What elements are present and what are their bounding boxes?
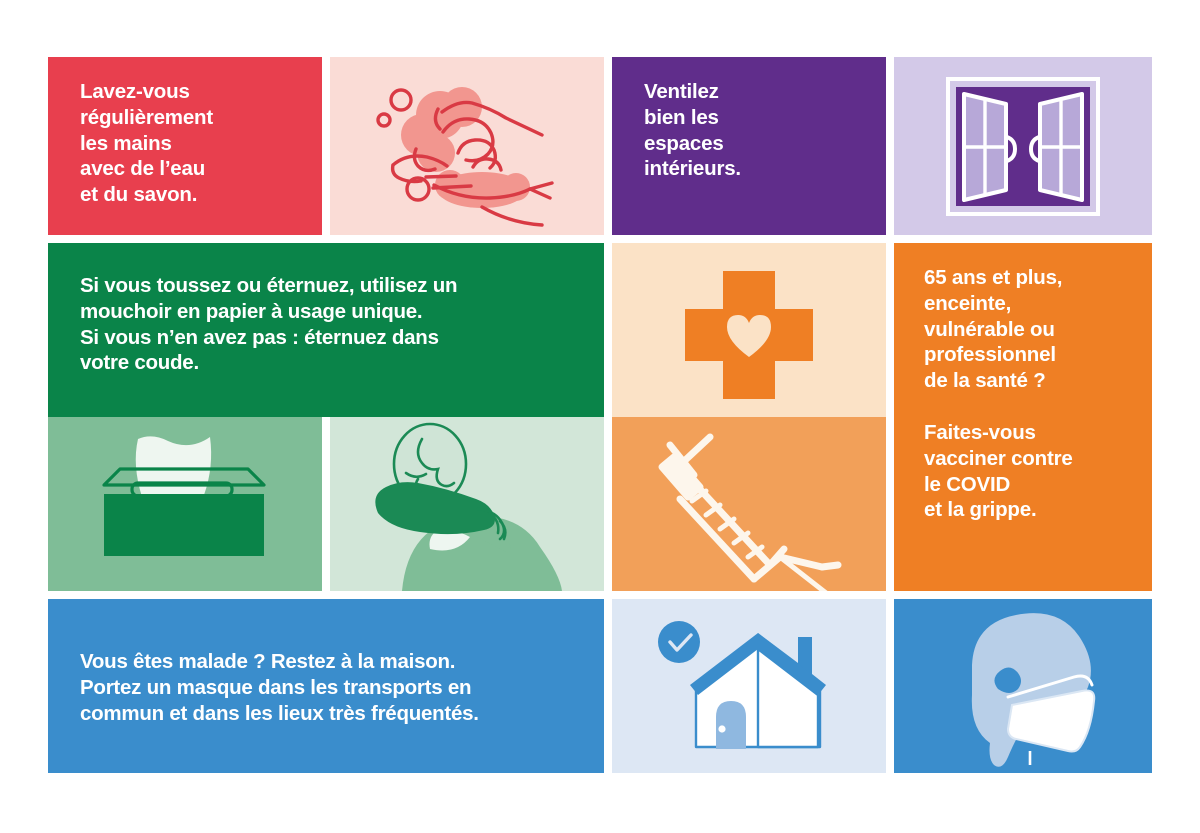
vaccinate-message: 65 ans et plus, enceinte, vulnérable ou …: [924, 265, 1073, 523]
panel-ventilate-icon: [894, 57, 1152, 235]
infographic-board: Lavez-vous régulièrement les mains avec …: [48, 57, 1152, 773]
panel-tissue-box-icon: [48, 417, 322, 591]
cough-message: Si vous toussez ou éternuez, utilisez un…: [80, 273, 457, 376]
stayhome-message: Vous êtes malade ? Restez à la maison. P…: [80, 649, 479, 726]
ventilate-message: Ventilez bien les espaces intérieurs.: [644, 79, 741, 182]
sneeze-into-elbow-icon: [330, 417, 604, 591]
panel-house-icon: [612, 599, 886, 773]
panel-mask-icon: [894, 599, 1152, 773]
panel-stayhome-text: Vous êtes malade ? Restez à la maison. P…: [48, 599, 604, 773]
tissue-box-icon: [48, 417, 322, 591]
panel-ventilate-text: Ventilez bien les espaces intérieurs.: [612, 57, 886, 235]
panel-handwash-text: Lavez-vous régulièrement les mains avec …: [48, 57, 322, 235]
panel-cough-text: Si vous toussez ou éternuez, utilisez un…: [48, 243, 604, 417]
face-mask-icon: [894, 599, 1152, 773]
panel-medical-cross-icon: [612, 243, 886, 417]
house-with-check-icon: [612, 599, 886, 773]
washing-hands-icon: [330, 57, 604, 235]
medical-cross-heart-icon: [612, 243, 886, 417]
syringe-icon: [612, 417, 886, 591]
handwash-message: Lavez-vous régulièrement les mains avec …: [80, 79, 213, 208]
panel-sneeze-elbow-icon: [330, 417, 604, 591]
open-window-icon: [894, 57, 1152, 235]
panel-vaccinate-text: 65 ans et plus, enceinte, vulnérable ou …: [894, 243, 1152, 591]
panel-syringe-icon: [612, 417, 886, 591]
panel-handwash-icon: [330, 57, 604, 235]
